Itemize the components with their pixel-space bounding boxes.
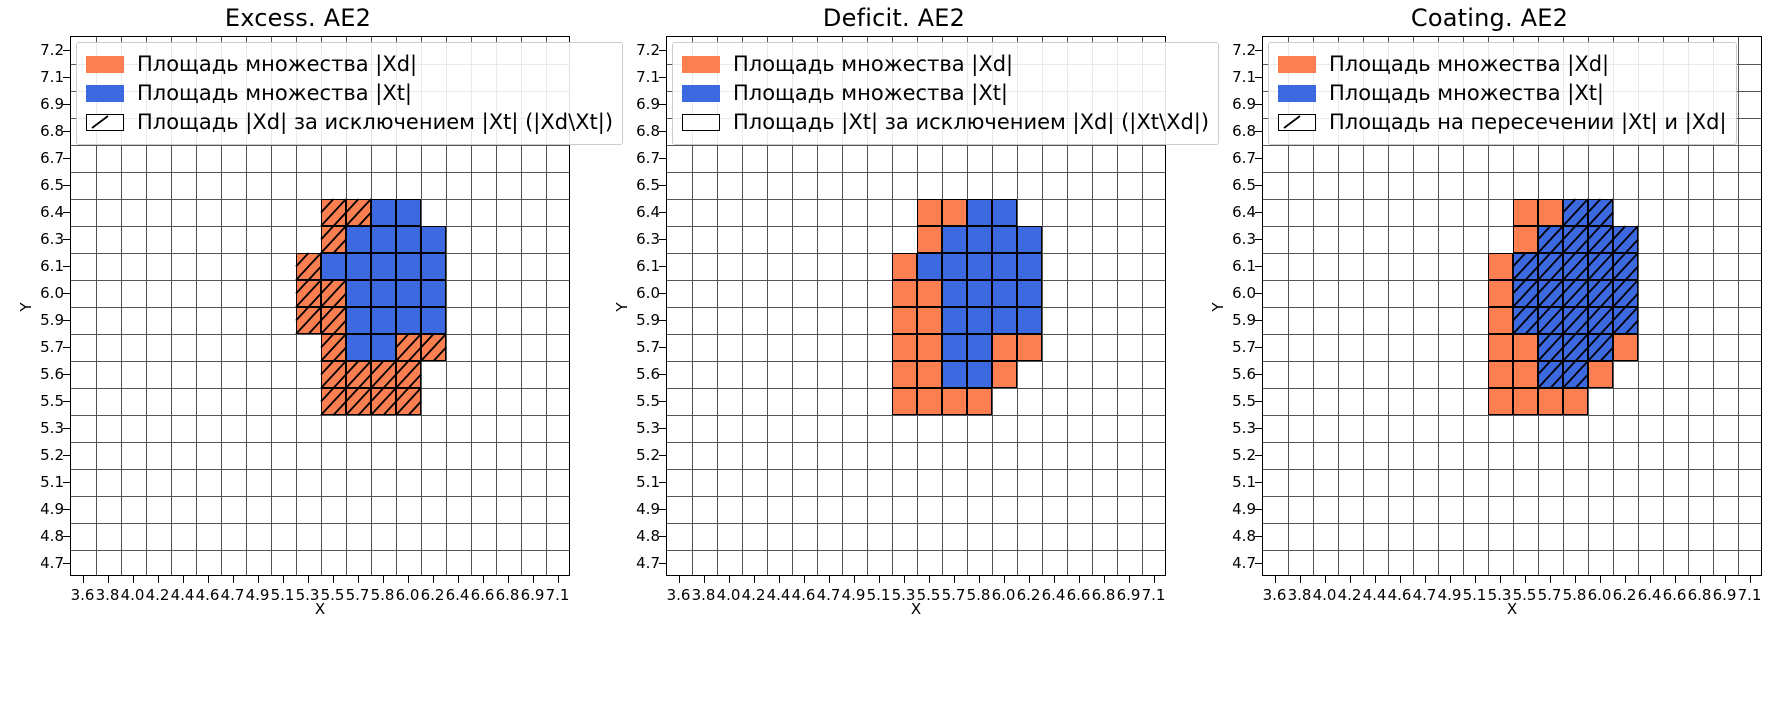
y-tick-mark xyxy=(63,266,70,267)
legend-label: Площадь на пересечении |Xt| и |Xd| xyxy=(1329,112,1727,133)
x-tick-mark xyxy=(558,576,559,583)
grid-cell-blue xyxy=(1588,334,1613,361)
grid-cell-blue xyxy=(1538,307,1563,334)
y-tick-mark xyxy=(659,509,666,510)
grid-cell-blue xyxy=(1588,253,1613,280)
y-tick-label: 6.9 xyxy=(24,95,64,113)
x-tick-mark xyxy=(108,576,109,583)
y-tick-label: 5.6 xyxy=(1216,365,1256,383)
legend-label: Площадь множества |Xt| xyxy=(137,83,412,104)
grid-cell-blue xyxy=(1563,226,1588,253)
grid-cell-blue xyxy=(1563,253,1588,280)
grid-cell-blue xyxy=(346,334,371,361)
grid-cell-blue xyxy=(1563,361,1588,388)
grid-cell-orange xyxy=(1513,199,1538,226)
grid-cell-orange xyxy=(1513,226,1538,253)
grid-cell-blue xyxy=(396,307,421,334)
legend-label: Площадь |Xd| за исключением |Xt| (|Xd\Xt… xyxy=(137,112,613,133)
y-tick-mark xyxy=(1255,212,1262,213)
x-axis-label: X xyxy=(1262,600,1762,618)
y-tick-mark xyxy=(659,77,666,78)
grid-cell-orange xyxy=(1017,334,1042,361)
y-tick-label: 6.8 xyxy=(620,122,660,140)
x-axis-label: X xyxy=(70,600,570,618)
x-tick-mark xyxy=(1400,576,1401,583)
y-tick-label: 6.4 xyxy=(620,203,660,221)
x-tick-mark xyxy=(1275,576,1276,583)
y-tick-mark xyxy=(1255,347,1262,348)
y-tick-label: 7.2 xyxy=(620,41,660,59)
y-tick-mark xyxy=(659,428,666,429)
x-tick-mark xyxy=(83,576,84,583)
x-tick-mark xyxy=(1600,576,1601,583)
x-tick-mark xyxy=(1054,576,1055,583)
y-tick-label: 4.8 xyxy=(620,527,660,545)
x-tick-mark xyxy=(754,576,755,583)
grid-cell-blue xyxy=(1563,334,1588,361)
y-tick-mark xyxy=(63,185,70,186)
x-tick-mark xyxy=(929,576,930,583)
grid-cell-orange xyxy=(1488,334,1513,361)
grid-cell-orange xyxy=(296,253,321,280)
x-tick-mark xyxy=(183,576,184,583)
x-tick-mark xyxy=(1425,576,1426,583)
y-tick-mark xyxy=(1255,482,1262,483)
y-tick-mark xyxy=(63,428,70,429)
legend-entry: Площадь множества |Xd| xyxy=(682,50,1209,79)
grid-cell-blue xyxy=(371,280,396,307)
legend-swatch-orange xyxy=(86,56,124,73)
x-tick-mark xyxy=(879,576,880,583)
y-tick-mark xyxy=(659,374,666,375)
grid-cell-blue xyxy=(421,307,446,334)
grid-cell-blue xyxy=(1513,253,1538,280)
x-tick-mark xyxy=(533,576,534,583)
legend-swatch-orange xyxy=(682,56,720,73)
y-tick-mark xyxy=(63,293,70,294)
y-tick-label: 6.5 xyxy=(1216,176,1256,194)
x-tick-mark xyxy=(1500,576,1501,583)
y-tick-mark xyxy=(63,509,70,510)
x-tick-mark xyxy=(1700,576,1701,583)
x-tick-mark xyxy=(483,576,484,583)
y-tick-label: 4.8 xyxy=(1216,527,1256,545)
grid-cell-blue xyxy=(1613,280,1638,307)
grid-cell-blue xyxy=(396,226,421,253)
y-tick-label: 6.5 xyxy=(620,176,660,194)
y-tick-mark xyxy=(1255,77,1262,78)
grid-cell-blue xyxy=(421,253,446,280)
grid-cell-orange xyxy=(917,361,942,388)
x-tick-mark xyxy=(1675,576,1676,583)
y-tick-label: 6.4 xyxy=(1216,203,1256,221)
grid-cell-blue xyxy=(371,199,396,226)
y-tick-mark xyxy=(659,50,666,51)
y-tick-label: 6.1 xyxy=(1216,257,1256,275)
y-tick-label: 5.6 xyxy=(620,365,660,383)
grid-cell-blue xyxy=(992,253,1017,280)
y-tick-mark xyxy=(63,131,70,132)
grid-cell-blue xyxy=(942,334,967,361)
grid-cell-blue xyxy=(346,253,371,280)
y-tick-mark xyxy=(1255,563,1262,564)
y-tick-label: 5.2 xyxy=(24,446,64,464)
y-tick-label: 5.2 xyxy=(1216,446,1256,464)
grid-cell-orange xyxy=(942,199,967,226)
grid-cell-orange xyxy=(942,388,967,415)
grid-cell-orange xyxy=(321,307,346,334)
y-tick-mark xyxy=(63,239,70,240)
y-tick-mark xyxy=(63,77,70,78)
legend-label: Площадь множества |Xt| xyxy=(1329,83,1604,104)
y-tick-label: 6.8 xyxy=(24,122,64,140)
x-tick-mark xyxy=(829,576,830,583)
grid-cell-orange xyxy=(917,226,942,253)
y-tick-mark xyxy=(63,212,70,213)
y-tick-mark xyxy=(659,347,666,348)
grid-cell-orange xyxy=(1488,280,1513,307)
grid-cell-blue xyxy=(1563,280,1588,307)
legend-entry: Площадь на пересечении |Xt| и |Xd| xyxy=(1278,108,1727,137)
y-tick-label: 5.3 xyxy=(620,419,660,437)
grid-cell-orange xyxy=(396,334,421,361)
y-tick-mark xyxy=(659,401,666,402)
grid-cell-orange xyxy=(892,361,917,388)
x-tick-mark xyxy=(383,576,384,583)
y-tick-mark xyxy=(659,293,666,294)
grid-cell-blue xyxy=(1538,280,1563,307)
x-tick-mark xyxy=(1375,576,1376,583)
grid-cell-orange xyxy=(1488,253,1513,280)
y-tick-mark xyxy=(63,104,70,105)
grid-cell-blue xyxy=(371,307,396,334)
grid-cell-blue xyxy=(1588,307,1613,334)
y-tick-label: 6.5 xyxy=(24,176,64,194)
grid-cell-blue xyxy=(1538,334,1563,361)
y-tick-label: 6.7 xyxy=(24,149,64,167)
legend-deficit[interactable]: Площадь множества |Xd|Площадь множества … xyxy=(672,42,1219,145)
y-axis-label: Y xyxy=(613,277,631,337)
x-tick-mark xyxy=(1079,576,1080,583)
grid-cell-blue xyxy=(942,226,967,253)
grid-cell-blue xyxy=(992,199,1017,226)
y-tick-label: 6.1 xyxy=(24,257,64,275)
grid-cell-orange xyxy=(321,280,346,307)
y-tick-label: 7.1 xyxy=(620,68,660,86)
grid-cell-orange xyxy=(321,388,346,415)
grid-cell-blue xyxy=(992,226,1017,253)
y-tick-mark xyxy=(659,104,666,105)
grid-cell-blue xyxy=(1017,280,1042,307)
panel-title: Deficit. AE2 xyxy=(596,4,1192,32)
legend-label: Площадь множества |Xd| xyxy=(1329,54,1609,75)
grid-cell-blue xyxy=(1538,253,1563,280)
grid-cell-blue xyxy=(967,253,992,280)
legend-swatch-hatched xyxy=(682,114,720,131)
legend-label: Площадь множества |Xt| xyxy=(733,83,1008,104)
grid-cell-orange xyxy=(396,361,421,388)
grid-cell-orange xyxy=(1513,388,1538,415)
y-tick-label: 5.5 xyxy=(1216,392,1256,410)
grid-cell-orange xyxy=(992,334,1017,361)
legend-swatch-hatched xyxy=(86,114,124,131)
grid-cell-blue xyxy=(346,307,371,334)
y-tick-mark xyxy=(1255,374,1262,375)
legend-swatch-blue xyxy=(86,85,124,102)
legend-entry: Площадь множества |Xd| xyxy=(86,50,613,79)
panel-excess: Excess. AE2 7.27.16.96.86.76.56.46.36.16… xyxy=(0,0,596,709)
grid-cell-orange xyxy=(992,361,1017,388)
legend-entry: Площадь множества |Xt| xyxy=(1278,79,1727,108)
y-tick-mark xyxy=(63,347,70,348)
grid-cell-blue xyxy=(1563,307,1588,334)
y-tick-label: 7.1 xyxy=(1216,68,1256,86)
y-tick-mark xyxy=(63,563,70,564)
y-tick-label: 4.7 xyxy=(620,554,660,572)
y-tick-label: 6.9 xyxy=(1216,95,1256,113)
grid-cell-blue xyxy=(371,334,396,361)
y-tick-mark xyxy=(659,563,666,564)
x-tick-mark xyxy=(904,576,905,583)
grid-cell-blue xyxy=(967,199,992,226)
grid-cell-orange xyxy=(917,307,942,334)
y-tick-mark xyxy=(1255,239,1262,240)
y-tick-mark xyxy=(1255,428,1262,429)
grid-cell-blue xyxy=(1563,199,1588,226)
y-tick-mark xyxy=(659,185,666,186)
y-tick-label: 5.7 xyxy=(24,338,64,356)
y-tick-label: 5.5 xyxy=(24,392,64,410)
y-tick-mark xyxy=(659,266,666,267)
y-tick-label: 6.3 xyxy=(24,230,64,248)
legend-entry: Площадь множества |Xt| xyxy=(86,79,613,108)
x-tick-mark xyxy=(1350,576,1351,583)
x-tick-mark xyxy=(1104,576,1105,583)
grid-cell-blue xyxy=(1588,199,1613,226)
grid-cell-orange xyxy=(371,361,396,388)
x-tick-mark xyxy=(1450,576,1451,583)
y-tick-label: 5.1 xyxy=(24,473,64,491)
x-tick-mark xyxy=(408,576,409,583)
y-tick-label: 6.1 xyxy=(620,257,660,275)
x-tick-mark xyxy=(704,576,705,583)
grid-cell-blue xyxy=(1017,226,1042,253)
y-tick-mark xyxy=(659,482,666,483)
legend-entry: Площадь множества |Xt| xyxy=(682,79,1209,108)
y-tick-mark xyxy=(1255,158,1262,159)
grid-cell-orange xyxy=(321,361,346,388)
grid-cell-orange xyxy=(917,388,942,415)
grid-cell-blue xyxy=(396,253,421,280)
x-tick-mark xyxy=(308,576,309,583)
y-tick-label: 6.7 xyxy=(1216,149,1256,167)
x-tick-mark xyxy=(283,576,284,583)
grid-cell-orange xyxy=(421,334,446,361)
grid-cell-blue xyxy=(1588,280,1613,307)
grid-cell-blue xyxy=(967,334,992,361)
x-tick-mark xyxy=(1325,576,1326,583)
x-tick-mark xyxy=(1750,576,1751,583)
grid-cell-orange xyxy=(1488,361,1513,388)
y-tick-label: 6.4 xyxy=(24,203,64,221)
y-tick-label: 5.3 xyxy=(24,419,64,437)
y-tick-mark xyxy=(659,536,666,537)
panel-title: Excess. AE2 xyxy=(0,4,596,32)
y-tick-label: 5.3 xyxy=(1216,419,1256,437)
grid-cell-blue xyxy=(396,280,421,307)
grid-cell-blue xyxy=(992,307,1017,334)
grid-cell-blue xyxy=(1613,253,1638,280)
y-tick-mark xyxy=(63,320,70,321)
grid-cell-blue xyxy=(1017,253,1042,280)
grid-cell-orange xyxy=(346,361,371,388)
legend-label: Площадь множества |Xd| xyxy=(733,54,1013,75)
legend-entry: Площадь |Xt| за исключением |Xd| (|Xt\Xd… xyxy=(682,108,1209,137)
x-tick-mark xyxy=(729,576,730,583)
y-tick-label: 4.9 xyxy=(1216,500,1256,518)
grid-cell-blue xyxy=(1538,361,1563,388)
grid-cell-blue xyxy=(942,253,967,280)
y-tick-label: 4.9 xyxy=(620,500,660,518)
grid-cell-orange xyxy=(296,307,321,334)
legend-entry: Площадь |Xd| за исключением |Xt| (|Xd\Xt… xyxy=(86,108,613,137)
panel-deficit: Deficit. AE2 7.27.16.96.86.76.56.46.36.1… xyxy=(596,0,1192,709)
y-tick-mark xyxy=(63,401,70,402)
y-tick-mark xyxy=(1255,50,1262,51)
x-tick-mark xyxy=(133,576,134,583)
grid-cell-blue xyxy=(371,253,396,280)
x-axis-label: X xyxy=(666,600,1166,618)
grid-cell-orange xyxy=(917,199,942,226)
grid-cell-orange xyxy=(1513,361,1538,388)
y-tick-mark xyxy=(63,536,70,537)
x-tick-mark xyxy=(979,576,980,583)
x-tick-mark xyxy=(333,576,334,583)
y-tick-mark xyxy=(1255,104,1262,105)
legend-swatch-blue xyxy=(682,85,720,102)
grid-cell-orange xyxy=(321,226,346,253)
y-tick-mark xyxy=(1255,266,1262,267)
y-tick-label: 5.7 xyxy=(620,338,660,356)
grid-cell-blue xyxy=(1513,280,1538,307)
grid-cell-blue xyxy=(992,280,1017,307)
figure-canvas: Excess. AE2 7.27.16.96.86.76.56.46.36.16… xyxy=(0,0,1787,709)
grid-cell-blue xyxy=(942,307,967,334)
legend-swatch-blue xyxy=(1278,85,1316,102)
y-axis-label: Y xyxy=(1209,277,1227,337)
legend-coating[interactable]: Площадь множества |Xd|Площадь множества … xyxy=(1268,42,1737,145)
y-tick-mark xyxy=(659,158,666,159)
y-tick-label: 6.3 xyxy=(620,230,660,248)
x-tick-mark xyxy=(1129,576,1130,583)
y-tick-mark xyxy=(63,374,70,375)
grid-cell-orange xyxy=(371,388,396,415)
panel-coating: Coating. AE2 7.27.16.96.86.76.56.46.36.1… xyxy=(1192,0,1787,709)
grid-cell-orange xyxy=(917,334,942,361)
x-tick-mark xyxy=(954,576,955,583)
y-tick-label: 6.9 xyxy=(620,95,660,113)
grid-cell-orange xyxy=(917,280,942,307)
y-tick-label: 6.8 xyxy=(1216,122,1256,140)
x-tick-mark xyxy=(1575,576,1576,583)
y-tick-mark xyxy=(659,455,666,456)
grid-cell-orange xyxy=(1538,199,1563,226)
y-tick-mark xyxy=(1255,185,1262,186)
grid-cell-orange xyxy=(346,199,371,226)
x-tick-mark xyxy=(258,576,259,583)
grid-cell-blue xyxy=(967,226,992,253)
grid-cell-blue xyxy=(1588,226,1613,253)
grid-cell-blue xyxy=(1017,307,1042,334)
y-tick-label: 5.6 xyxy=(24,365,64,383)
y-tick-mark xyxy=(659,239,666,240)
grid-cell-blue xyxy=(967,280,992,307)
y-tick-mark xyxy=(63,50,70,51)
grid-cell-blue xyxy=(346,280,371,307)
grid-cell-blue xyxy=(371,226,396,253)
x-tick-mark xyxy=(1625,576,1626,583)
grid-cell-orange xyxy=(1488,307,1513,334)
y-tick-mark xyxy=(1255,401,1262,402)
grid-cell-blue xyxy=(967,307,992,334)
legend-entry: Площадь множества |Xd| xyxy=(1278,50,1727,79)
y-tick-label: 7.2 xyxy=(1216,41,1256,59)
y-tick-label: 5.7 xyxy=(1216,338,1256,356)
grid-cell-blue xyxy=(942,361,967,388)
legend-label: Площадь |Xt| за исключением |Xd| (|Xt\Xd… xyxy=(733,112,1209,133)
x-tick-mark xyxy=(158,576,159,583)
legend-swatch-hatched xyxy=(1278,114,1316,131)
y-tick-mark xyxy=(1255,293,1262,294)
x-tick-mark xyxy=(433,576,434,583)
y-tick-mark xyxy=(659,131,666,132)
grid-cell-orange xyxy=(1588,361,1613,388)
y-axis-label: Y xyxy=(17,277,35,337)
grid-cell-blue xyxy=(421,226,446,253)
x-tick-mark xyxy=(1650,576,1651,583)
grid-cell-blue xyxy=(1538,226,1563,253)
grid-cell-orange xyxy=(967,388,992,415)
legend-excess[interactable]: Площадь множества |Xd|Площадь множества … xyxy=(76,42,623,145)
grid-cell-blue xyxy=(421,280,446,307)
y-tick-mark xyxy=(1255,131,1262,132)
y-tick-label: 4.8 xyxy=(24,527,64,545)
x-tick-mark xyxy=(1475,576,1476,583)
x-tick-mark xyxy=(1550,576,1551,583)
grid-cell-orange xyxy=(321,334,346,361)
y-tick-label: 4.7 xyxy=(24,554,64,572)
y-tick-mark xyxy=(1255,320,1262,321)
x-tick-mark xyxy=(804,576,805,583)
x-tick-mark xyxy=(1725,576,1726,583)
y-tick-mark xyxy=(659,320,666,321)
x-tick-mark xyxy=(679,576,680,583)
y-tick-label: 4.7 xyxy=(1216,554,1256,572)
grid-cell-blue xyxy=(396,199,421,226)
y-tick-mark xyxy=(1255,536,1262,537)
grid-cell-orange xyxy=(346,388,371,415)
grid-cell-blue xyxy=(917,253,942,280)
grid-cell-blue xyxy=(1513,307,1538,334)
y-tick-label: 5.2 xyxy=(620,446,660,464)
x-tick-mark xyxy=(233,576,234,583)
x-tick-mark xyxy=(358,576,359,583)
y-tick-label: 7.2 xyxy=(24,41,64,59)
y-tick-label: 5.5 xyxy=(620,392,660,410)
y-tick-label: 4.9 xyxy=(24,500,64,518)
grid-cell-orange xyxy=(892,253,917,280)
y-tick-label: 7.1 xyxy=(24,68,64,86)
